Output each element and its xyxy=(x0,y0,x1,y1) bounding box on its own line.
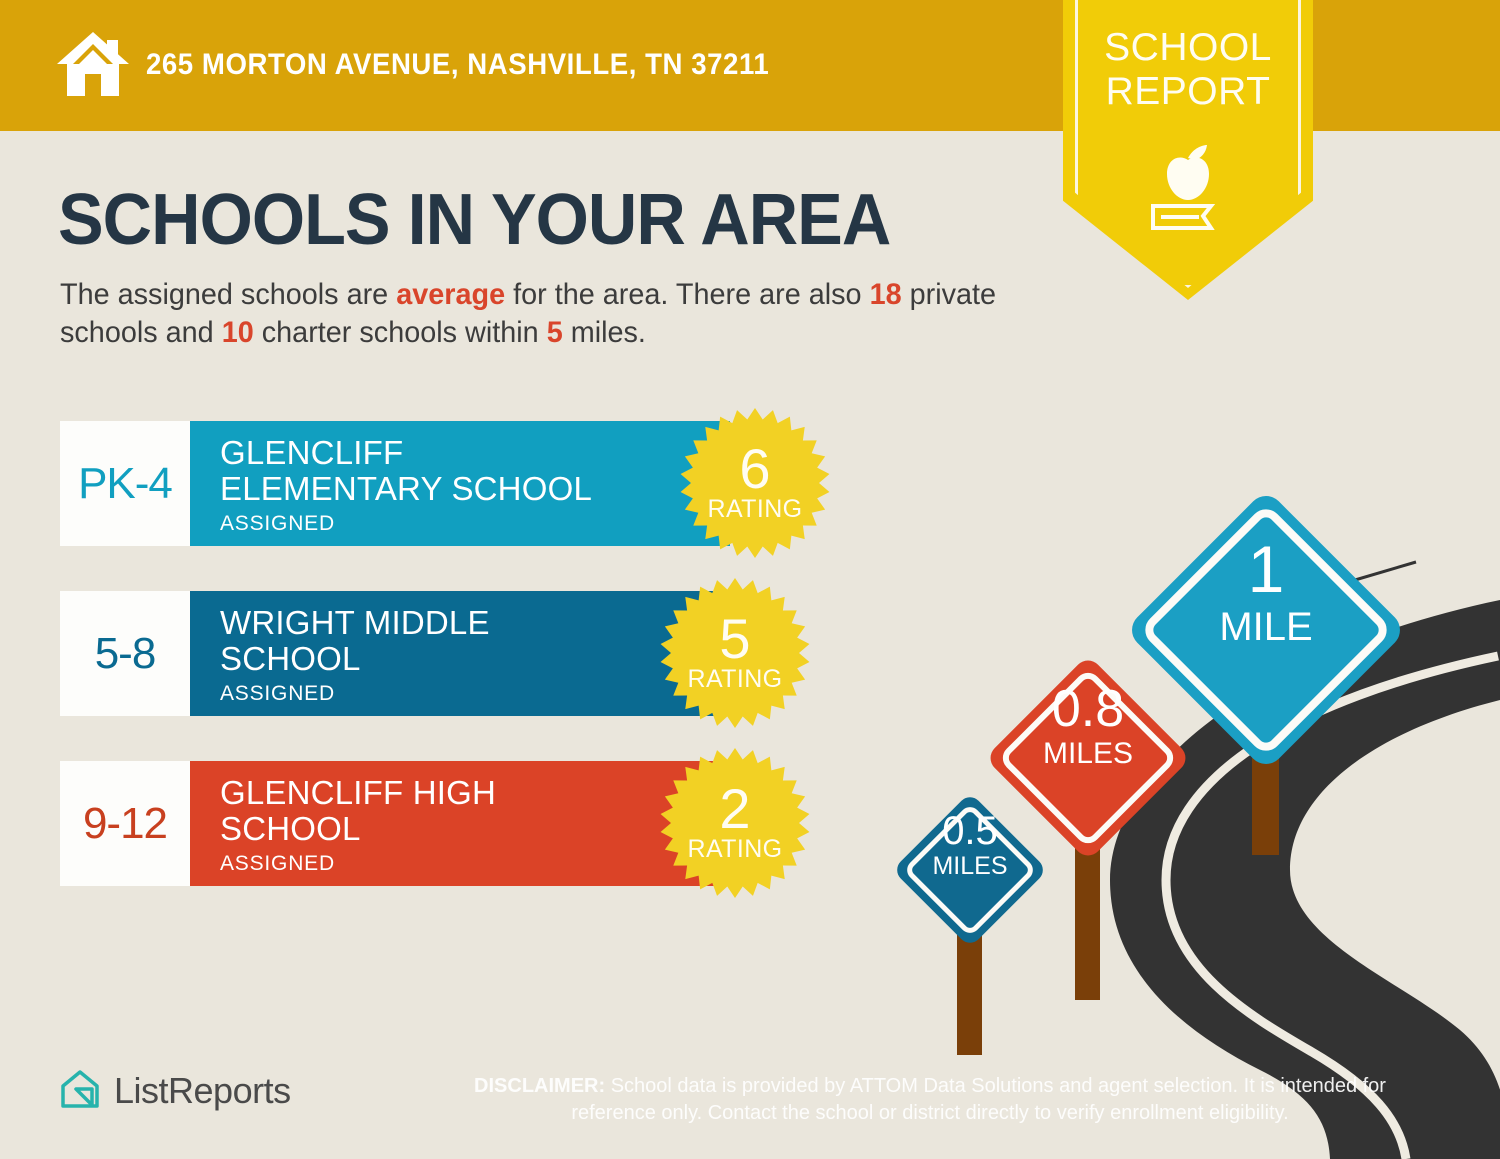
rating-badge: 2RATING xyxy=(660,748,810,898)
apple-book-icon-group xyxy=(1133,136,1243,236)
grade-box: PK-4 xyxy=(60,421,190,546)
badge-title-line1: SCHOOL xyxy=(1063,26,1313,70)
rating-badge: 6RATING xyxy=(680,408,830,558)
school-name: GLENCLIFF HIGH SCHOOL xyxy=(220,775,730,847)
road-sign-1-value: 1 xyxy=(1248,532,1285,606)
rating-badge: 5RATING xyxy=(660,578,810,728)
disclaimer-text: DISCLAIMER: School data is provided by A… xyxy=(430,1073,1430,1127)
subtitle-highlight-5: 10 xyxy=(222,316,254,349)
rating-caption: RATING xyxy=(688,835,783,863)
school-list: PK-4GLENCLIFF ELEMENTARY SCHOOLASSIGNED6… xyxy=(60,421,820,931)
road-sign-0-5-value: 0.5 xyxy=(942,809,998,853)
road-sign-0-8-unit: MILES xyxy=(1043,737,1133,770)
badge-title: SCHOOL REPORT xyxy=(1063,26,1313,114)
page-title: SCHOOLS IN YOUR AREA xyxy=(58,180,890,260)
school-bar: WRIGHT MIDDLE SCHOOLASSIGNED xyxy=(190,591,730,716)
home-icon xyxy=(55,30,131,98)
disclaimer-label: DISCLAIMER: xyxy=(474,1075,605,1097)
page-subtitle: The assigned schools are average for the… xyxy=(60,276,1030,352)
school-report-badge: SCHOOL REPORT xyxy=(1063,0,1313,300)
road-signs-illustration: 0.5 MILES 0.8 MILES 1 MILE xyxy=(860,470,1500,1159)
grade-label: 9-12 xyxy=(83,801,167,847)
listreports-logo-text: ListReports xyxy=(114,1070,291,1112)
rating-value: 5 xyxy=(719,613,750,665)
rating-caption: RATING xyxy=(688,665,783,693)
road-sign-0-5-unit: MILES xyxy=(932,852,1007,880)
rating-caption: RATING xyxy=(708,495,803,523)
subtitle-highlight-3: 18 xyxy=(870,278,902,311)
school-name: WRIGHT MIDDLE SCHOOL xyxy=(220,605,730,677)
subtitle-text-0: The assigned schools are xyxy=(60,278,396,311)
school-bar: GLENCLIFF ELEMENTARY SCHOOLASSIGNED xyxy=(190,421,730,546)
grade-box: 9-12 xyxy=(60,761,190,886)
subtitle-text-2: for the area. There are also xyxy=(505,278,869,311)
school-row[interactable]: 9-12GLENCLIFF HIGH SCHOOLASSIGNED2RATING xyxy=(60,761,820,886)
subtitle-highlight-1: average xyxy=(396,278,505,311)
subtitle-text-8: miles. xyxy=(563,316,646,349)
school-row[interactable]: 5-8WRIGHT MIDDLE SCHOOLASSIGNED5RATING xyxy=(60,591,820,716)
listreports-logo[interactable]: ListReports xyxy=(58,1068,308,1122)
rating-value: 6 xyxy=(739,443,770,495)
school-status: ASSIGNED xyxy=(220,511,730,537)
school-status: ASSIGNED xyxy=(220,851,730,877)
subtitle-text-6: charter schools within xyxy=(254,316,547,349)
school-row[interactable]: PK-4GLENCLIFF ELEMENTARY SCHOOLASSIGNED6… xyxy=(60,421,820,546)
rating-value: 2 xyxy=(719,783,750,835)
road-sign-0-8-value: 0.8 xyxy=(1052,680,1124,738)
apple-icon xyxy=(1167,145,1209,200)
road-sign-1-unit: MILE xyxy=(1219,605,1312,649)
header-address: 265 MORTON AVENUE, NASHVILLE, TN 37211 xyxy=(146,48,769,82)
school-name: GLENCLIFF ELEMENTARY SCHOOL xyxy=(220,435,730,507)
grade-label: PK-4 xyxy=(78,461,172,507)
book-icon xyxy=(1153,206,1211,228)
school-bar: GLENCLIFF HIGH SCHOOLASSIGNED xyxy=(190,761,730,886)
badge-title-line2: REPORT xyxy=(1063,70,1313,114)
listreports-house-tag-icon xyxy=(58,1068,102,1114)
school-status: ASSIGNED xyxy=(220,681,730,707)
grade-label: 5-8 xyxy=(95,631,156,677)
disclaimer-body: School data is provided by ATTOM Data So… xyxy=(571,1075,1386,1124)
grade-box: 5-8 xyxy=(60,591,190,716)
subtitle-highlight-7: 5 xyxy=(547,316,563,349)
